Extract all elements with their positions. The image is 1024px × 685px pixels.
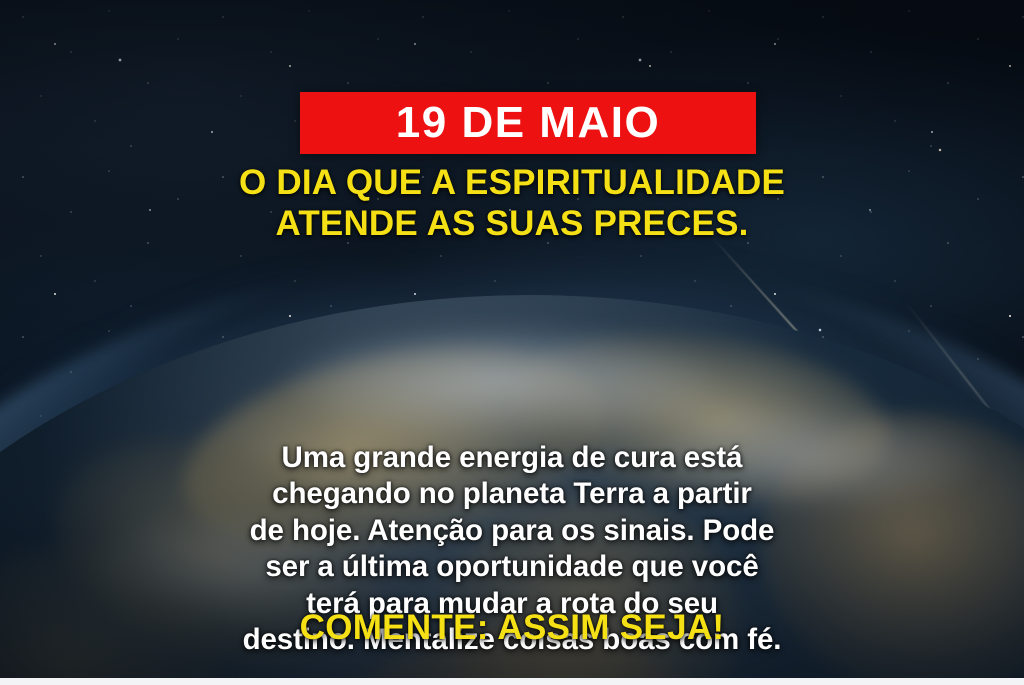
body-line-4: ser a última oportunidade que você	[36, 549, 988, 585]
headline-line-1: O DIA QUE A ESPIRITUALIDADE	[40, 163, 984, 204]
headline: O DIA QUE A ESPIRITUALIDADE ATENDE AS SU…	[0, 163, 1024, 244]
date-banner-label: 19 DE MAIO	[396, 101, 660, 145]
headline-line-2: ATENDE AS SUAS PRECES.	[40, 204, 984, 245]
call-to-action: COMENTE: ASSIM SEJA!	[0, 610, 1024, 645]
poster-canvas: 19 DE MAIO O DIA QUE A ESPIRITUALIDADE A…	[0, 0, 1024, 685]
call-to-action-label: COMENTE: ASSIM SEJA!	[300, 608, 725, 647]
body-line-3: de hoje. Atenção para os sinais. Pode	[36, 513, 988, 549]
body-line-1: Uma grande energia de cura está	[36, 440, 988, 476]
body-line-2: chegando no planeta Terra a partir	[36, 476, 988, 512]
date-banner: 19 DE MAIO	[300, 92, 756, 154]
bottom-strip	[0, 678, 1024, 685]
poster-content: 19 DE MAIO O DIA QUE A ESPIRITUALIDADE A…	[0, 0, 1024, 685]
